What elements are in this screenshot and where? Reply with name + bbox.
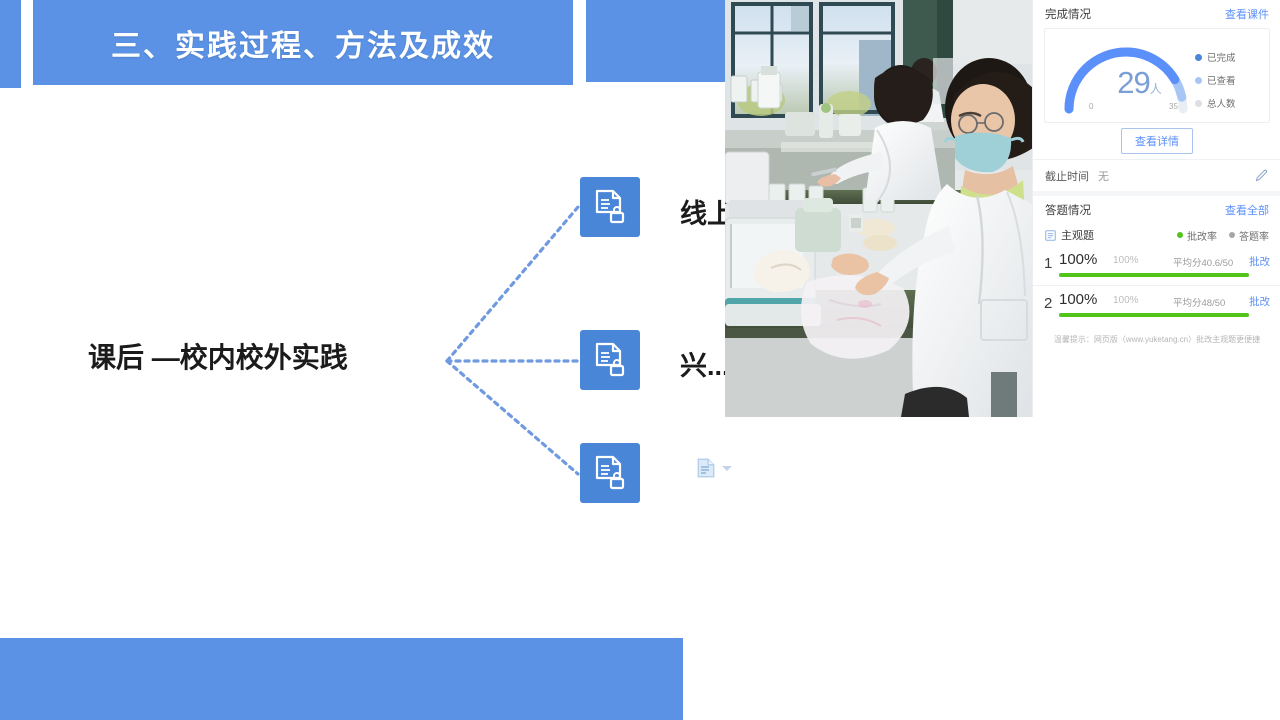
view-detail-button[interactable]: 查看详情 — [1121, 128, 1193, 154]
metric-label-answer: 答题率 — [1239, 228, 1269, 243]
question-average-score: 平均分48/50 — [1173, 295, 1225, 309]
gauge-value: 29 — [1117, 65, 1149, 100]
document-lock-icon — [590, 340, 630, 380]
detail-button-wrap: 查看详情 — [1033, 123, 1280, 159]
grade-action-link[interactable]: 批改 — [1249, 254, 1270, 269]
question-type-label: 主观题 — [1061, 227, 1094, 243]
metric-dot-answer — [1229, 232, 1235, 238]
panel-footer-tip: 温馨提示：网页版（www.yuketang.cn）批改主观题更便捷 — [1033, 325, 1280, 345]
document-lock-icon — [590, 187, 630, 227]
legend-dot-total — [1195, 100, 1202, 107]
completion-section-header: 完成情况 查看课件 — [1033, 0, 1280, 27]
gauge-min-label: 0 — [1089, 102, 1093, 111]
diagram-node-icon-1[interactable] — [580, 177, 640, 237]
question-index: 2 — [1044, 295, 1052, 312]
slide-footer-banner — [0, 638, 683, 720]
completion-gauge-card: 29人 0 35 已完成 已查看 总人数 — [1044, 28, 1270, 123]
presentation-slide: 三、实践过程、方法及成效 课后 —校内校外实践 线上... — [0, 0, 725, 720]
deadline-label: 截止时间 — [1045, 168, 1089, 184]
question-average-score: 平均分40.6/50 — [1173, 255, 1233, 269]
deadline-text-group: 截止时间 无 — [1045, 168, 1109, 184]
metric-dot-grade — [1177, 232, 1183, 238]
question-progress-track — [1059, 273, 1249, 277]
question-type-group: 主观题 — [1045, 227, 1165, 243]
document-preview: 沧州市微生物类企业调查报告 新一轮科技革命和产业变革正在重构全球创新版图、重塑全… — [683, 422, 1280, 720]
question-progress-fill — [1059, 273, 1249, 277]
diagram-node-label-2: 兴... — [680, 344, 730, 383]
slide-screenshot: 三、实践过程、方法及成效 课后 —校内校外实践 线上... — [0, 0, 1280, 720]
legend-item-completed: 已完成 — [1195, 50, 1236, 64]
chevron-down-icon[interactable] — [722, 466, 732, 471]
pencil-icon[interactable] — [1254, 168, 1269, 183]
diagram-node-icon-3[interactable] — [580, 443, 640, 503]
question-row: 2 100% 100% 平均分48/50 批改 — [1033, 286, 1280, 325]
answers-section-header: 答题情况 查看全部 — [1033, 196, 1280, 224]
gauge-unit: 人 — [1150, 82, 1161, 96]
answers-column-header: 主观题 批改率 答题率 — [1033, 224, 1280, 246]
question-progress-track — [1059, 313, 1249, 317]
document-type-selector[interactable] — [697, 458, 732, 478]
gauge-value-wrap: 29人 — [1096, 65, 1182, 101]
metric-label-grade: 批改率 — [1187, 228, 1217, 243]
legend-label-total: 总人数 — [1207, 96, 1236, 110]
microbiology-lab-photo — [725, 0, 1032, 417]
deadline-value: 无 — [1098, 168, 1109, 184]
answers-title: 答题情况 — [1045, 202, 1091, 218]
diagram-node-icon-2[interactable] — [580, 330, 640, 390]
gauge-legend: 已完成 已查看 总人数 — [1195, 50, 1236, 119]
completion-title: 完成情况 — [1045, 6, 1091, 22]
gauge-max-label: 35 — [1169, 102, 1178, 111]
course-activity-panel: 完成情况 查看课件 29人 0 35 已完成 已查看 — [1032, 0, 1280, 417]
question-answer-rate: 100% — [1113, 255, 1139, 266]
question-row: 1 100% 100% 平均分40.6/50 批改 — [1033, 246, 1280, 285]
legend-label-viewed: 已查看 — [1207, 73, 1236, 87]
legend-dot-completed — [1195, 54, 1202, 61]
legend-dot-viewed — [1195, 77, 1202, 84]
list-document-icon — [1045, 230, 1056, 241]
legend-label-completed: 已完成 — [1207, 50, 1236, 64]
question-index: 1 — [1044, 255, 1052, 272]
question-grade-rate: 100% — [1059, 251, 1097, 268]
view-courseware-link[interactable]: 查看课件 — [1225, 6, 1269, 22]
question-answer-rate: 100% — [1113, 295, 1139, 306]
metric-grade-rate: 批改率 — [1177, 228, 1217, 243]
metric-answer-rate: 答题率 — [1229, 228, 1269, 243]
legend-item-total: 总人数 — [1195, 96, 1236, 110]
question-progress-fill — [1059, 313, 1249, 317]
question-grade-rate: 100% — [1059, 291, 1097, 308]
grade-action-link[interactable]: 批改 — [1249, 294, 1270, 309]
document-lock-icon — [590, 453, 630, 493]
view-all-link[interactable]: 查看全部 — [1225, 202, 1269, 218]
lab-photo-illustration — [725, 0, 1032, 417]
legend-item-viewed: 已查看 — [1195, 73, 1236, 87]
deadline-row: 截止时间 无 — [1033, 160, 1280, 191]
word-document-icon — [697, 458, 715, 478]
